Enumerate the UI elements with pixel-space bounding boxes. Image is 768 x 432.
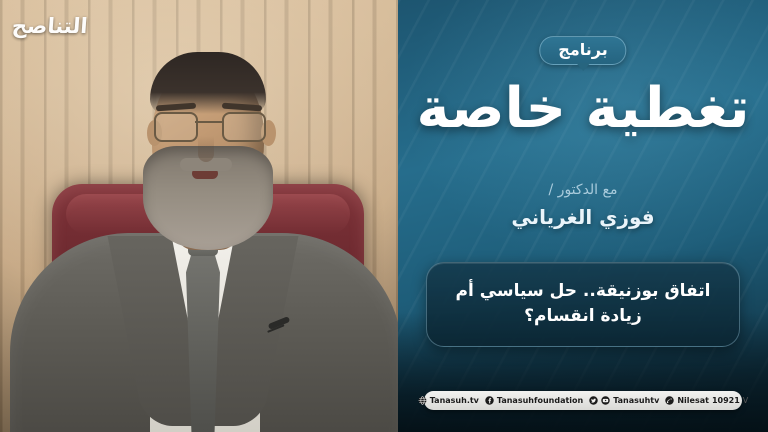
program-badge-label: برنامج bbox=[558, 40, 607, 59]
website-label: Tanasuh.tv bbox=[430, 396, 479, 405]
satellite-label: Nilesat bbox=[677, 396, 709, 405]
guest-necktie bbox=[186, 242, 220, 432]
video-feed[interactable]: التناصح bbox=[0, 0, 400, 432]
eyeglass-lens-left bbox=[154, 112, 198, 142]
guest-name: فوزي الغرياني bbox=[398, 205, 768, 229]
facebook-icon bbox=[485, 396, 494, 405]
eyeglass-bridge bbox=[195, 121, 223, 123]
social-media-bar: Tanasuh.tv Tanasuhfoundation bbox=[424, 391, 742, 410]
frequency-polarity: V bbox=[743, 396, 748, 405]
show-title: تغطية خاصة bbox=[398, 80, 768, 139]
headline-box: اتفاق بوزنيقة.. حل سياسي أم زيادة انقسام… bbox=[426, 262, 740, 347]
youtube-label: Tanasuhtv bbox=[613, 396, 659, 405]
globe-icon bbox=[418, 396, 427, 405]
logo-text: التناصح bbox=[11, 14, 88, 38]
program-badge: برنامج bbox=[539, 36, 626, 65]
guest-prefix: مع الدكتور / bbox=[398, 182, 768, 198]
eyeglass-lens-right bbox=[222, 112, 266, 142]
social-item-facebook[interactable]: Tanasuhfoundation bbox=[485, 396, 583, 405]
youtube-icon bbox=[601, 396, 610, 405]
tanasuh-tv-logo: التناصح bbox=[11, 14, 88, 38]
satellite-icon bbox=[665, 396, 674, 405]
facebook-label: Tanasuhfoundation bbox=[497, 396, 583, 405]
broadcast-frame: التناصح برنامج تغطية خاصة مع الدكتور / ف… bbox=[0, 0, 768, 432]
badge-pointer bbox=[576, 63, 590, 71]
social-item-satellite[interactable]: Nilesat 10921 V bbox=[665, 396, 748, 405]
social-item-twitter-youtube[interactable]: Tanasuhtv bbox=[589, 396, 659, 405]
eyeglasses-icon bbox=[152, 112, 265, 140]
program-info-panel: برنامج تغطية خاصة مع الدكتور / فوزي الغر… bbox=[398, 0, 768, 432]
headline-text: اتفاق بوزنيقة.. حل سياسي أم زيادة انقسام… bbox=[456, 281, 711, 326]
frequency-value: 10921 bbox=[712, 396, 740, 405]
social-item-website[interactable]: Tanasuh.tv bbox=[418, 396, 479, 405]
twitter-icon bbox=[589, 396, 598, 405]
